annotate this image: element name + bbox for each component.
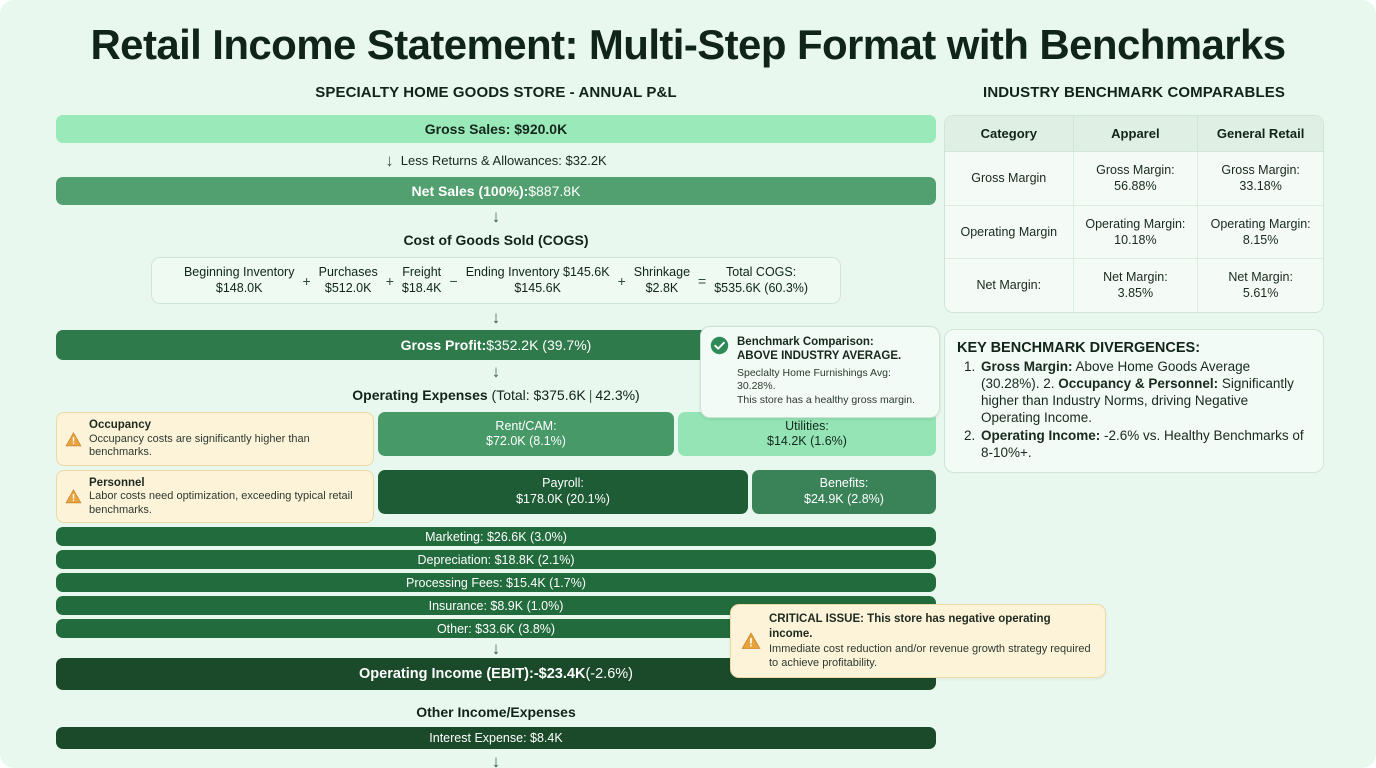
occupancy-row: Occupancy Occupancy costs are significan… [56, 412, 936, 466]
benchmark-tooltip-text: Benchmark Comparison: ABOVE INDUSTRY AVE… [737, 335, 929, 408]
personnel-warning-body: Labor costs need optimization, exceeding… [89, 490, 364, 517]
cogs-formula-box: Beginning Inventory $148.0K + Purchases … [151, 257, 841, 304]
cell-apparel: Net Margin: 3.85% [1074, 259, 1199, 312]
opex-heading-pct: 42.3%) [595, 387, 639, 403]
occupancy-warning-callout: Occupancy Occupancy costs are significan… [56, 412, 374, 466]
expense-label: Processing Fees: $15.4K (1.7%) [406, 576, 586, 590]
cogs-term-name: Ending Inventory $145.6K [466, 265, 610, 279]
bar-expense-processing-fees[interactable]: Processing Fees: $15.4K (1.7%) [56, 573, 936, 592]
arrow-down-icon: ↓ [492, 753, 501, 768]
cogs-term-name: Shrinkage [634, 265, 690, 279]
opex-heading-bold: Operating Expenses [352, 387, 491, 403]
warning-triangle-icon [65, 488, 82, 505]
bar-net-sales-label: Net Sales (100%): [412, 183, 529, 199]
critical-issue-body: Immediate cost reduction and/or revenue … [769, 642, 1095, 671]
utilities-text: Utilities: $14.2K (1.6%) [767, 419, 847, 450]
cogs-term-value: $148.0K [184, 281, 295, 297]
segment-benefits[interactable]: Benefits: $24.9K (2.8%) [752, 470, 936, 514]
opex-heading-separator: | [586, 387, 596, 403]
list-item: Gross Margin: Above Home Goods Average (… [979, 358, 1311, 427]
cell-apparel: Operating Margin: 10.18% [1074, 206, 1199, 260]
expense-label: Other: $33.6K (3.8%) [437, 622, 555, 636]
benefits-text: Benefits: $24.9K (2.8%) [804, 476, 884, 507]
infographic-page: Retail Income Statement: Multi-Step Form… [0, 0, 1376, 768]
returns-allowances-label: Less Returns & Allowances: $32.2K [401, 153, 607, 168]
cogs-term-name: Total COGS: [726, 265, 796, 279]
segment-payroll[interactable]: Payroll: $178.0K (20.1%) [378, 470, 748, 514]
cogs-term-name: Freight [402, 265, 441, 279]
rent-cam-text: Rent/CAM: $72.0K (8.1%) [486, 419, 566, 450]
table-row: Operating Margin Operating Margin: 10.18… [945, 206, 1323, 260]
bar-gross-profit-value: $352.2K (39.7%) [486, 337, 591, 353]
cogs-term-name: Beginning Inventory [184, 265, 295, 279]
expense-label: Depreciation: $18.8K (2.1%) [417, 553, 574, 567]
benchmark-tooltip-body-line1: Speclalty Home Furnishings Avg: 30.28%. [737, 367, 929, 394]
column-header-general-retail: General Retail [1198, 116, 1323, 152]
occupancy-warning-title: Occupancy [89, 418, 364, 432]
bar-gross-profit-label: Gross Profit: [401, 337, 487, 353]
cogs-operator-minus: − [448, 273, 460, 289]
cogs-term-shrinkage: Shrinkage $2.8K [634, 265, 690, 296]
benchmark-tooltip-body-line2: This store has a healthy gross margin. [737, 394, 929, 408]
arrow-down-icon: ↓ [492, 208, 501, 225]
arrow-down-icon: ↓ [492, 363, 501, 380]
critical-issue-text: CRITICAL ISSUE: This store has negative … [769, 612, 1095, 670]
column-header-apparel: Apparel [1074, 116, 1199, 152]
critical-issue-tooltip: CRITICAL ISSUE: This store has negative … [730, 604, 1106, 678]
bar-expense-depreciation[interactable]: Depreciation: $18.8K (2.1%) [56, 550, 936, 569]
payroll-value: $178.0K (20.1%) [516, 492, 610, 508]
personnel-warning-title: Personnel [89, 476, 364, 490]
bar-net-sales[interactable]: Net Sales (100%): $887.8K [56, 177, 936, 205]
cogs-arrow-row: ↓ [56, 205, 936, 227]
cogs-term-freight: Freight $18.4K [402, 265, 442, 296]
other-income-heading: Other Income/Expenses [56, 690, 936, 727]
arrow-down-icon: ↓ [492, 640, 501, 657]
warning-triangle-icon [65, 431, 82, 448]
cogs-term-value: $18.4K [402, 281, 442, 297]
divergence-lead: Gross Margin: [981, 359, 1073, 374]
benchmark-table: Category Apparel General Retail Gross Ma… [944, 115, 1324, 313]
cogs-term-beginning-inventory: Beginning Inventory $148.0K [184, 265, 295, 296]
benefits-value: $24.9K (2.8%) [804, 492, 884, 508]
cell-general-retail: Gross Margin: 33.18% [1198, 152, 1323, 206]
list-item: Operating Income: -2.6% vs. Healthy Benc… [979, 427, 1311, 462]
ebit-percent: (-2.6%) [585, 666, 633, 683]
cogs-operator-equals: = [696, 273, 708, 289]
cell-category: Net Margin: [945, 259, 1074, 312]
cogs-term-value: $2.8K [634, 281, 690, 297]
occupancy-warning-text: Occupancy Occupancy costs are significan… [89, 418, 364, 460]
personnel-warning-callout: Personnel Labor costs need optimization,… [56, 470, 374, 524]
cogs-operator-plus: + [384, 273, 396, 289]
utilities-value: $14.2K (1.6%) [767, 434, 847, 450]
cogs-term-ending-inventory: Ending Inventory $145.6K $145.6K [466, 265, 610, 296]
bar-expense-marketing[interactable]: Marketing: $26.6K (3.0%) [56, 527, 936, 546]
personnel-row: Personnel Labor costs need optimization,… [56, 470, 936, 524]
pretax-arrow-row: ↓ [56, 749, 936, 768]
column-header-category: Category [945, 116, 1074, 152]
left-column-heading: SPECIALTY HOME GOODS STORE - ANNUAL P&L [56, 84, 936, 101]
cogs-operator-plus: + [616, 273, 628, 289]
benchmark-tooltip-title-line1: Benchmark Comparison: [737, 335, 929, 349]
check-circle-icon [710, 336, 729, 355]
occupancy-warning-body: Occupancy costs are significantly higher… [89, 433, 364, 460]
payroll-text: Payroll: $178.0K (20.1%) [516, 476, 610, 507]
table-row: Net Margin: Net Margin: 3.85% Net Margin… [945, 259, 1323, 312]
cogs-term-value: $535.6K (60.3%) [714, 281, 808, 297]
cogs-term-name: Purchases [319, 265, 378, 279]
benchmark-comparison-tooltip: Benchmark Comparison: ABOVE INDUSTRY AVE… [700, 326, 940, 418]
cell-general-retail: Operating Margin: 8.15% [1198, 206, 1323, 260]
content-columns: SPECIALTY HOME GOODS STORE - ANNUAL P&L … [0, 68, 1376, 768]
rent-cam-label: Rent/CAM: [486, 419, 566, 435]
warning-triangle-icon [741, 631, 761, 651]
personnel-warning-text: Personnel Labor costs need optimization,… [89, 476, 364, 518]
ebit-value: -$23.4K [534, 666, 586, 683]
cell-general-retail: Net Margin: 5.61% [1198, 259, 1323, 312]
benchmark-tooltip-title-line2: ABOVE INDUSTRY AVERAGE. [737, 349, 929, 363]
cogs-term-value: $512.0K [319, 281, 378, 297]
divergence-lead: Operating Income: [981, 428, 1100, 443]
utilities-label: Utilities: [767, 419, 847, 435]
arrow-down-icon: ↓ [385, 152, 394, 169]
cogs-term-total: Total COGS: $535.6K (60.3%) [714, 265, 808, 296]
cogs-term-purchases: Purchases $512.0K [319, 265, 378, 296]
bar-interest-expense[interactable]: Interest Expense: $8.4K [56, 727, 936, 749]
bar-net-sales-value: $887.8K [528, 183, 580, 199]
table-row: Gross Margin Gross Margin: 56.88% Gross … [945, 152, 1323, 206]
cogs-heading: Cost of Goods Sold (COGS) [56, 227, 936, 253]
key-divergences-panel: KEY BENCHMARK DIVERGENCES: Gross Margin:… [944, 329, 1324, 474]
divergence-lead-2: Occupancy & Personnel: [1058, 376, 1218, 391]
segment-rent-cam[interactable]: Rent/CAM: $72.0K (8.1%) [378, 412, 674, 456]
payroll-label: Payroll: [516, 476, 610, 492]
opex-heading-total: (Total: $375.6K [492, 387, 586, 403]
cogs-operator-plus: + [300, 273, 312, 289]
segment-utilities[interactable]: Utilities: $14.2K (1.6%) [678, 412, 936, 456]
returns-arrow-row: ↓ Less Returns & Allowances: $32.2K [56, 143, 936, 177]
key-divergences-title: KEY BENCHMARK DIVERGENCES: [957, 340, 1311, 356]
expense-label: Insurance: $8.9K (1.0%) [429, 599, 564, 613]
bar-gross-sales-label: Gross Sales: $920.0K [425, 121, 567, 137]
cell-apparel: Gross Margin: 56.88% [1074, 152, 1199, 206]
rent-cam-value: $72.0K (8.1%) [486, 434, 566, 450]
bar-gross-sales[interactable]: Gross Sales: $920.0K [56, 115, 936, 143]
benefits-label: Benefits: [804, 476, 884, 492]
key-divergences-list: Gross Margin: Above Home Goods Average (… [979, 358, 1311, 462]
arrow-down-icon: ↓ [492, 309, 501, 326]
ebit-label: Operating Income (EBIT): [359, 666, 534, 683]
right-column-heading: INDUSTRY BENCHMARK COMPARABLES [944, 84, 1324, 101]
interest-expense-label: Interest Expense: $8.4K [429, 731, 562, 745]
table-header-row: Category Apparel General Retail [945, 116, 1323, 152]
critical-issue-head: CRITICAL ISSUE: This store has negative … [769, 612, 1095, 642]
cogs-term-value: $145.6K [466, 281, 610, 297]
cell-category: Operating Margin [945, 206, 1074, 260]
expense-label: Marketing: $26.6K (3.0%) [425, 530, 567, 544]
cell-category: Gross Margin [945, 152, 1074, 206]
page-title: Retail Income Statement: Multi-Step Form… [0, 0, 1376, 68]
